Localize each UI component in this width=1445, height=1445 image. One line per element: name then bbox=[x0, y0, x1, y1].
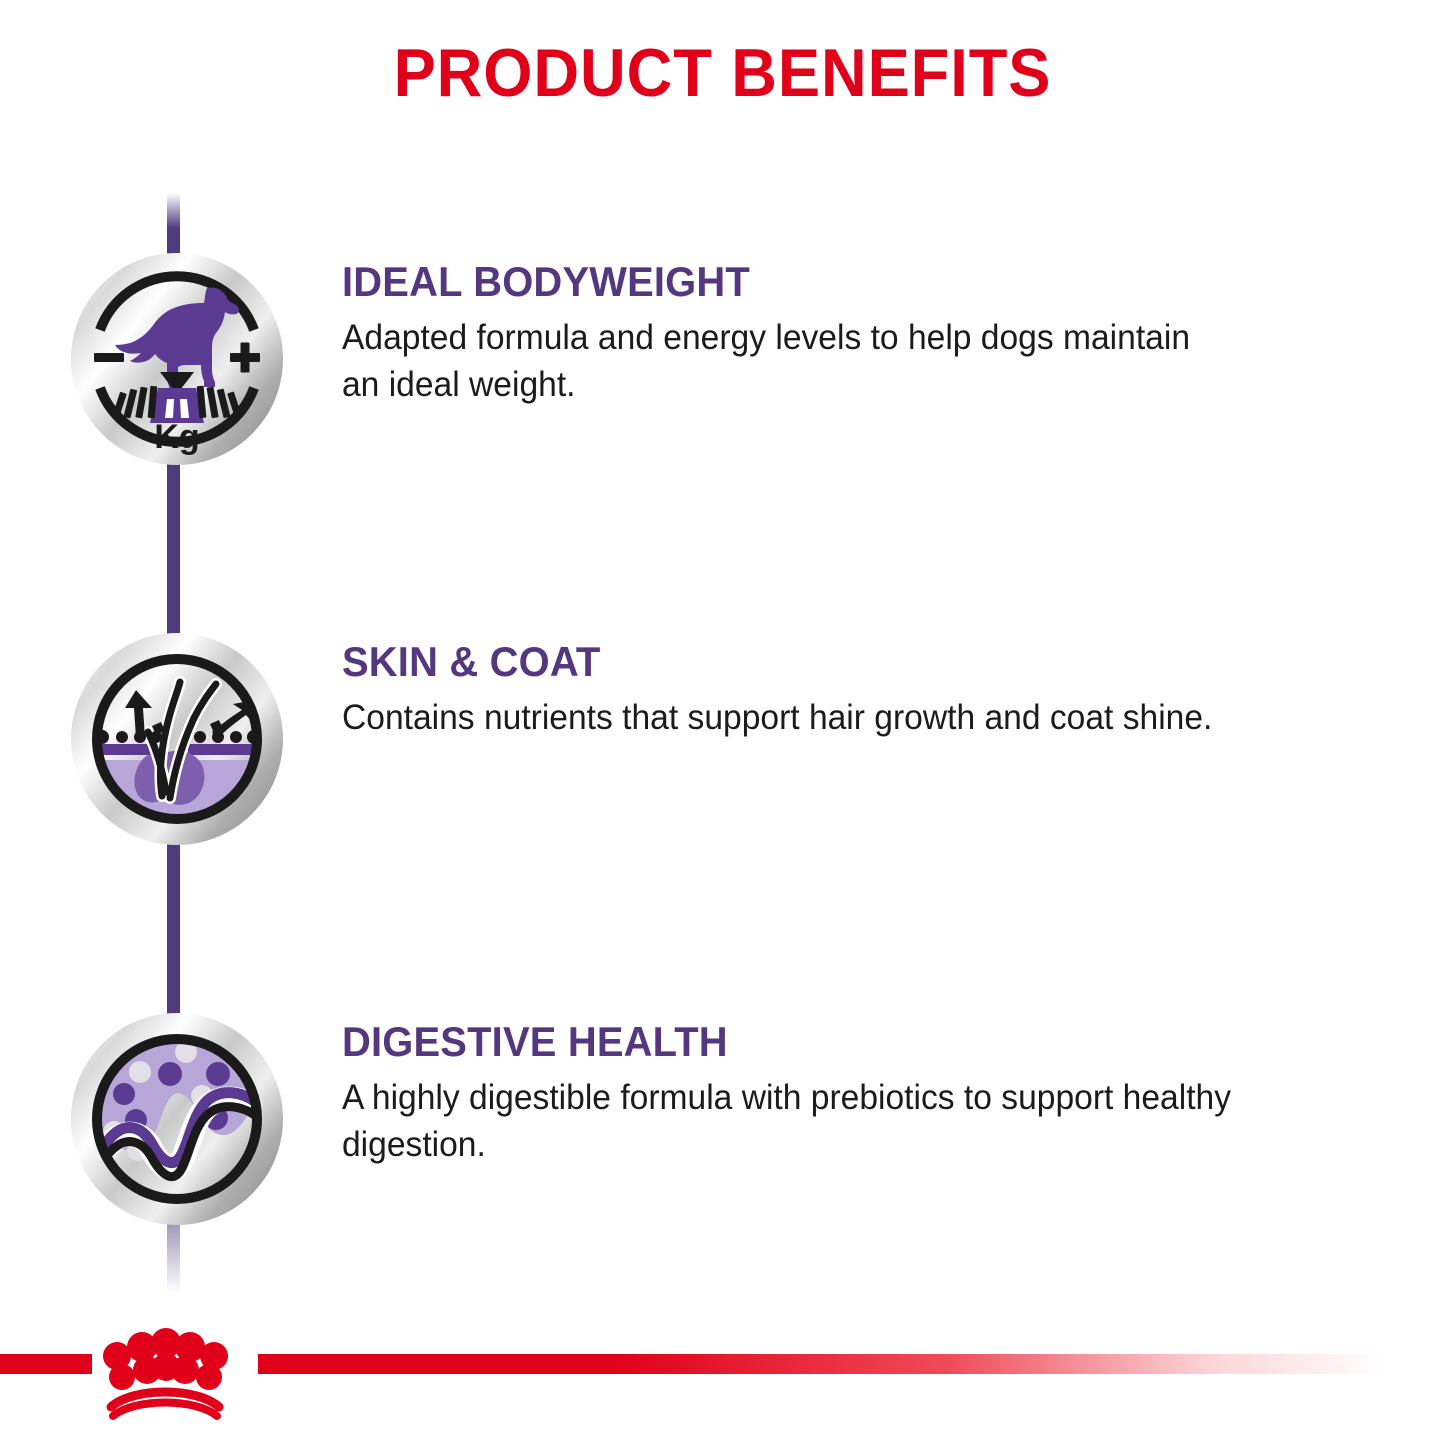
benefit-body: Contains nutrients that support hair gro… bbox=[342, 694, 1235, 741]
footer bbox=[0, 1320, 1445, 1445]
royal-canin-crown-logo bbox=[95, 1322, 235, 1422]
svg-text:Kg: Kg bbox=[154, 418, 199, 456]
skin-and-coat-hair-follicle-icon bbox=[70, 632, 284, 846]
footer-bar-left bbox=[0, 1354, 92, 1374]
benefit-text-block: IDEAL BODYWEIGHT Adapted formula and ene… bbox=[342, 258, 1292, 408]
page-title: PRODUCT BENEFITS bbox=[51, 34, 1395, 112]
benefit-text-block: SKIN & COAT Contains nutrients that supp… bbox=[342, 638, 1292, 741]
ideal-bodyweight-scale-dog-icon: Kg bbox=[70, 252, 284, 466]
benefit-text-block: DIGESTIVE HEALTH A highly digestible for… bbox=[342, 1018, 1292, 1168]
benefit-heading: IDEAL BODYWEIGHT bbox=[342, 258, 1245, 306]
benefit-body: Adapted formula and energy levels to hel… bbox=[342, 314, 1235, 408]
digestive-health-intestine-icon bbox=[70, 1012, 284, 1226]
benefit-heading: SKIN & COAT bbox=[342, 638, 1245, 686]
product-benefits-page: PRODUCT BENEFITS bbox=[0, 0, 1445, 1445]
footer-bar-right bbox=[258, 1354, 1445, 1374]
benefit-body: A highly digestible formula with prebiot… bbox=[342, 1074, 1235, 1168]
benefit-heading: DIGESTIVE HEALTH bbox=[342, 1018, 1245, 1066]
